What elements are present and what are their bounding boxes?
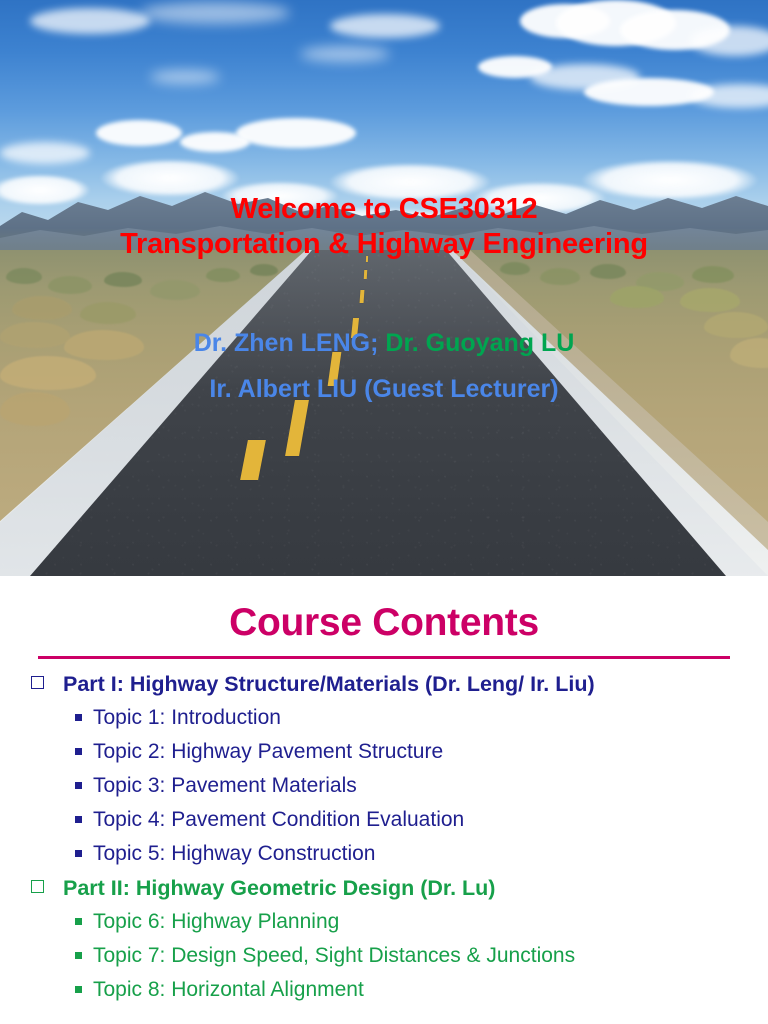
author-lu: Dr. Guoyang LU bbox=[385, 329, 574, 357]
title-line-1: Welcome to CSE30312 bbox=[0, 192, 768, 227]
topic-label: Topic 1: Introduction bbox=[93, 706, 281, 730]
cloud-icon bbox=[30, 8, 150, 34]
author-line-1: Dr. Zhen LENG; Dr. Guoyang LU bbox=[0, 320, 768, 366]
topic-label: Topic 4: Pavement Condition Evaluation bbox=[93, 808, 464, 832]
scrub-bush bbox=[692, 266, 734, 283]
cloud-icon bbox=[150, 70, 220, 84]
filled-square-bullet-icon bbox=[75, 748, 82, 755]
topic-label: Topic 2: Highway Pavement Structure bbox=[93, 740, 443, 764]
scrub-bush bbox=[250, 264, 278, 276]
cloud-icon bbox=[330, 14, 440, 38]
scrub-bush bbox=[680, 288, 740, 312]
topic-label: Topic 7: Design Speed, Sight Distances &… bbox=[93, 944, 575, 968]
scrub-bush bbox=[48, 276, 92, 294]
authors-block: Dr. Zhen LENG; Dr. Guoyang LU Ir. Albert… bbox=[0, 320, 768, 412]
author-line-2: Ir. Albert LIU (Guest Lecturer) bbox=[0, 366, 768, 412]
outline-part-heading: Part II: Highway Geometric Design (Dr. L… bbox=[0, 876, 768, 910]
scrub-bush bbox=[206, 268, 240, 282]
outline-topic: Topic 8: Horizontal Alignment bbox=[0, 978, 768, 1012]
contents-outline: Part I: Highway Structure/Materials (Dr.… bbox=[0, 672, 768, 1012]
title-divider bbox=[38, 656, 730, 659]
author-leng: Dr. Zhen LENG; bbox=[194, 329, 386, 357]
part-label: Part II: Highway Geometric Design (Dr. L… bbox=[63, 876, 495, 901]
title-block: Welcome to CSE30312 Transportation & Hig… bbox=[0, 192, 768, 262]
hollow-square-bullet-icon bbox=[31, 880, 44, 893]
scrub-bush bbox=[540, 268, 580, 285]
topic-label: Topic 5: Highway Construction bbox=[93, 842, 375, 866]
outline-topic: Topic 2: Highway Pavement Structure bbox=[0, 740, 768, 774]
title-slide: Welcome to CSE30312 Transportation & Hig… bbox=[0, 0, 768, 576]
scrub-bush bbox=[610, 286, 664, 308]
center-line-dash bbox=[364, 270, 367, 279]
outline-topic: Topic 6: Highway Planning bbox=[0, 910, 768, 944]
scrub-bush bbox=[150, 280, 200, 300]
cloud-icon bbox=[140, 2, 290, 24]
page-title: Course Contents bbox=[0, 601, 768, 645]
scrub-bush bbox=[12, 296, 72, 320]
topic-label: Topic 8: Horizontal Alignment bbox=[93, 978, 364, 1002]
filled-square-bullet-icon bbox=[75, 918, 82, 925]
filled-square-bullet-icon bbox=[75, 714, 82, 721]
outline-part-heading: Part I: Highway Structure/Materials (Dr.… bbox=[0, 672, 768, 706]
scrub-bush bbox=[500, 262, 530, 275]
filled-square-bullet-icon bbox=[75, 952, 82, 959]
outline-topic: Topic 3: Pavement Materials bbox=[0, 774, 768, 808]
outline-topic: Topic 7: Design Speed, Sight Distances &… bbox=[0, 944, 768, 978]
scrub-bush bbox=[590, 264, 626, 279]
outline-topic: Topic 1: Introduction bbox=[0, 706, 768, 740]
course-contents-slide: Course Contents Part I: Highway Structur… bbox=[0, 576, 768, 1024]
topic-label: Topic 6: Highway Planning bbox=[93, 910, 339, 934]
cloud-icon bbox=[300, 46, 390, 62]
filled-square-bullet-icon bbox=[75, 816, 82, 823]
hollow-square-bullet-icon bbox=[31, 676, 44, 689]
outline-topic: Topic 5: Highway Construction bbox=[0, 842, 768, 876]
outline-topic: Topic 4: Pavement Condition Evaluation bbox=[0, 808, 768, 842]
filled-square-bullet-icon bbox=[75, 850, 82, 857]
topic-label: Topic 3: Pavement Materials bbox=[93, 774, 357, 798]
part-label: Part I: Highway Structure/Materials (Dr.… bbox=[63, 672, 595, 697]
scrub-bush bbox=[104, 272, 142, 287]
filled-square-bullet-icon bbox=[75, 986, 82, 993]
filled-square-bullet-icon bbox=[75, 782, 82, 789]
title-line-2: Transportation & Highway Engineering bbox=[0, 227, 768, 262]
scrub-bush bbox=[6, 268, 42, 284]
